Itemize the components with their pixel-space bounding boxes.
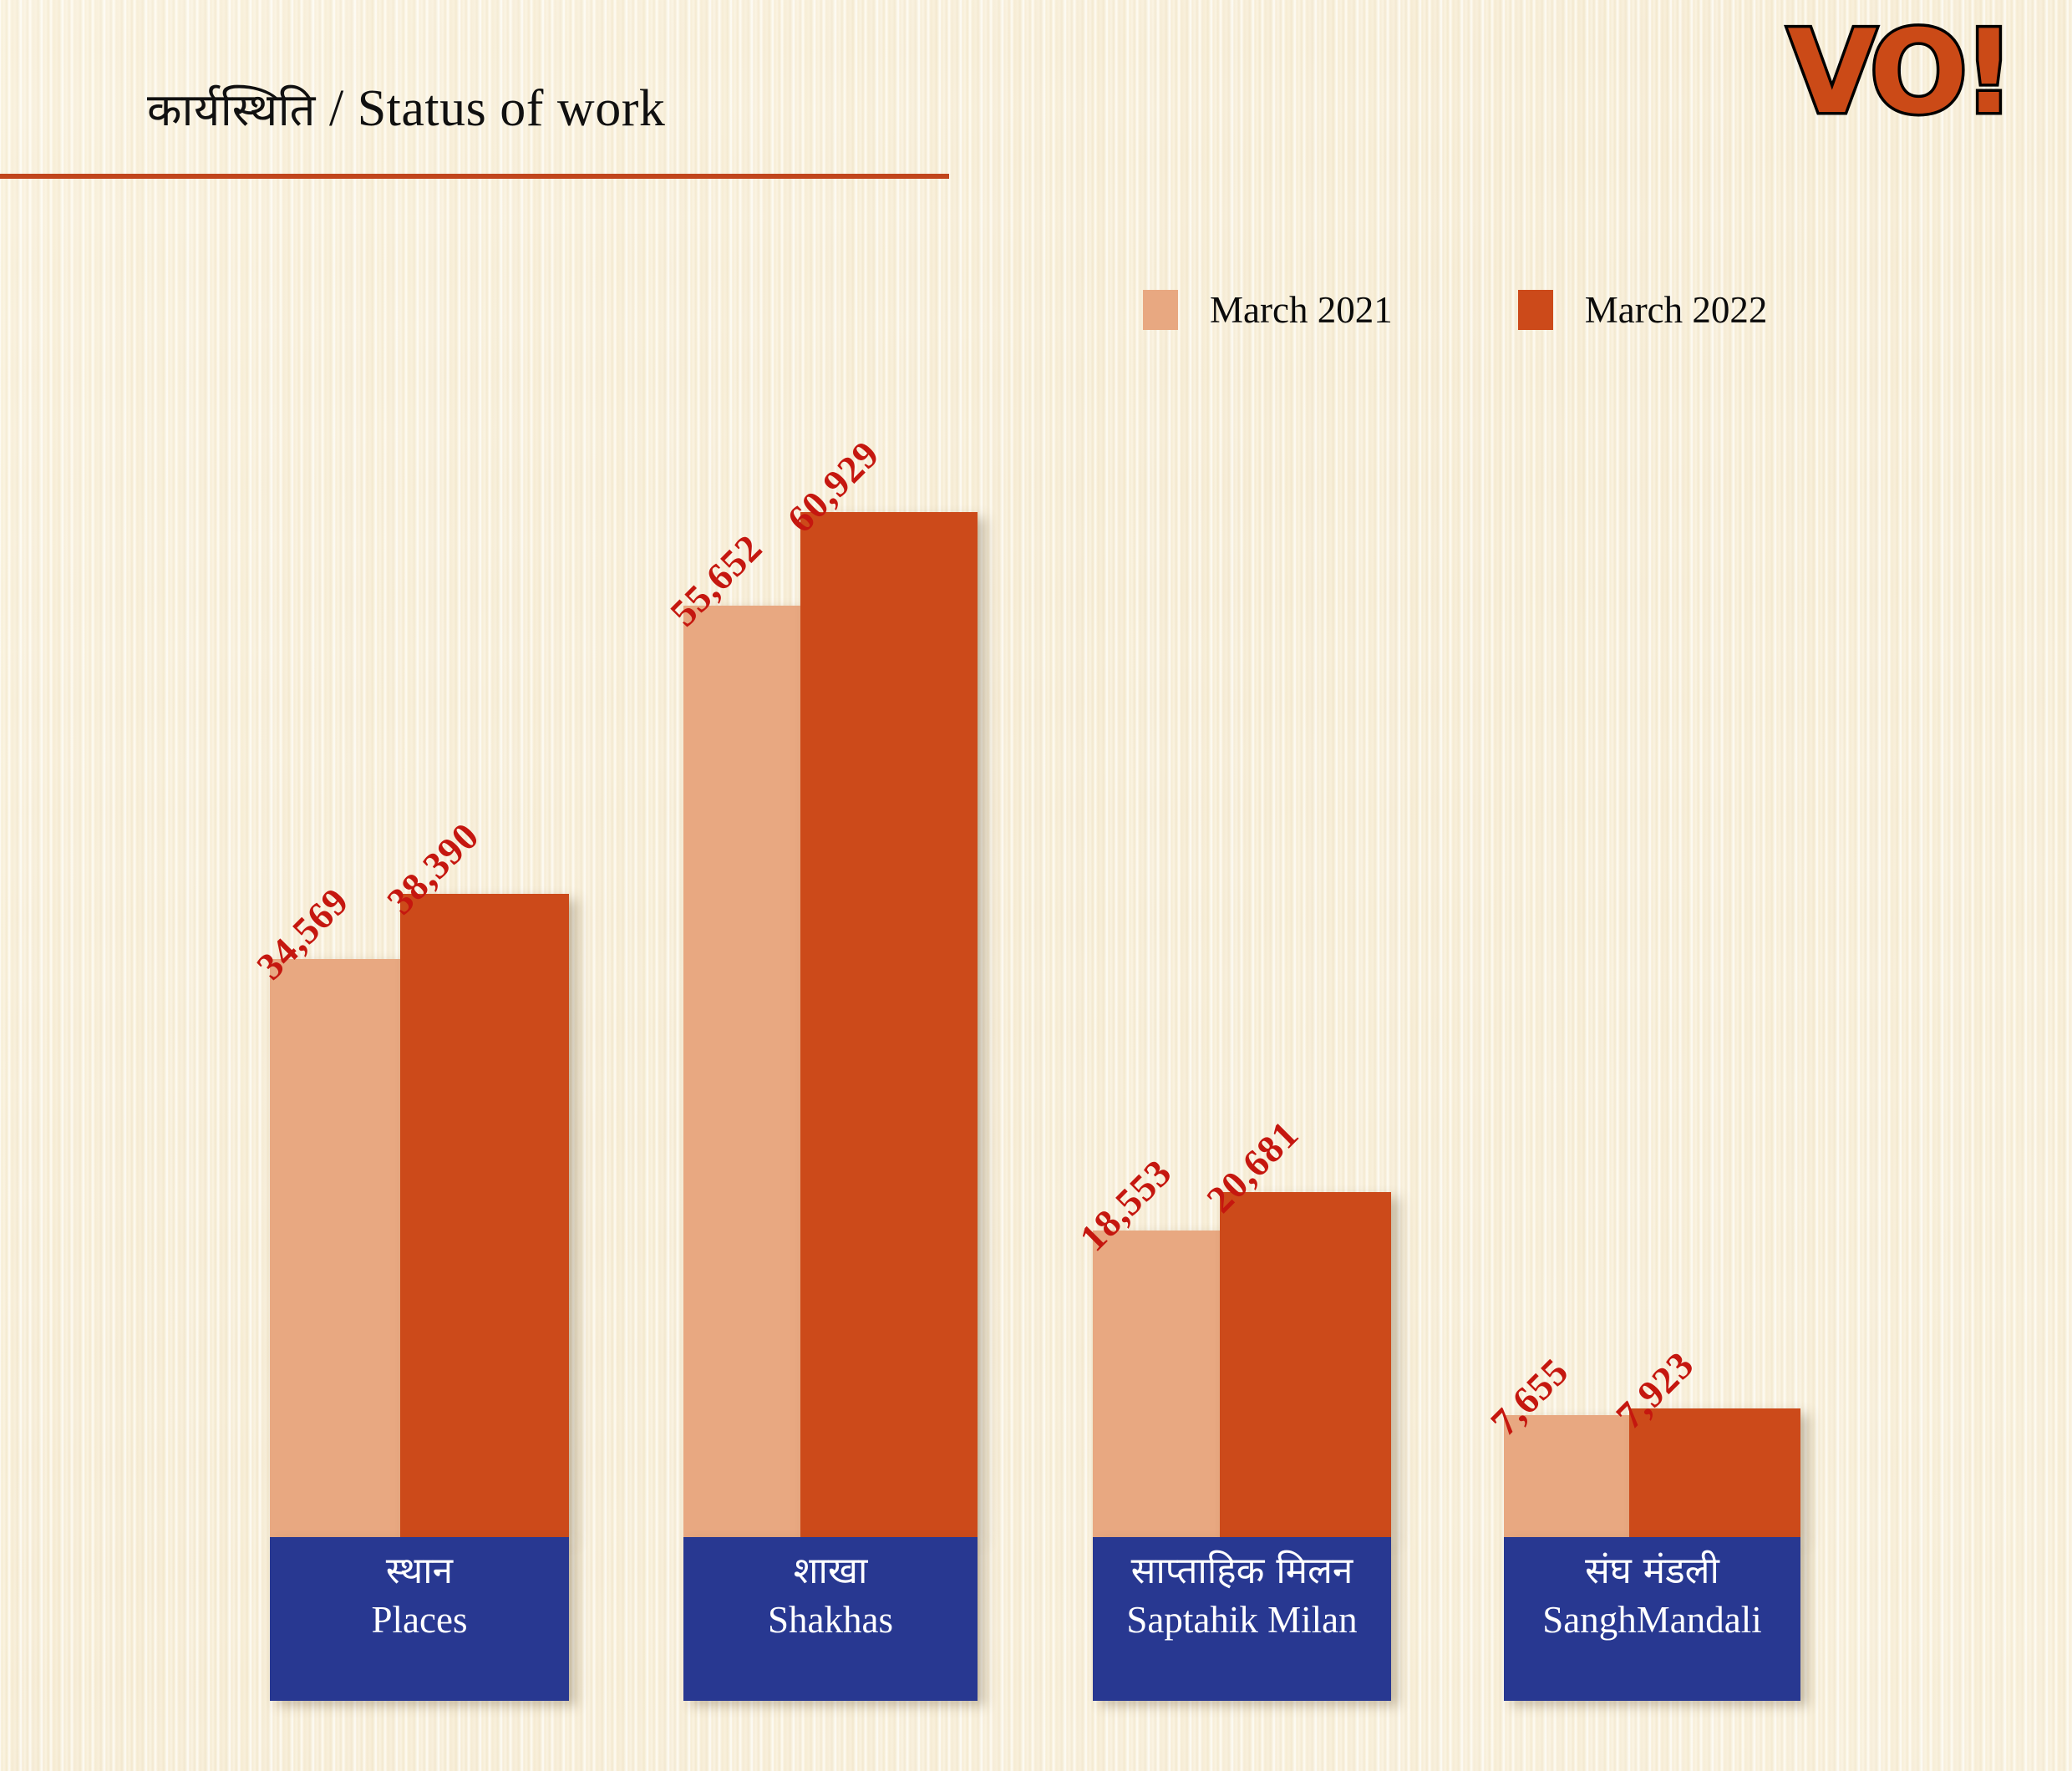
bar-places-2021 [270, 959, 400, 1537]
category-label-places-devanagari: स्थान [270, 1549, 569, 1594]
category-label-shakhas-devanagari: शाखा [683, 1549, 978, 1594]
bar-saptahik-milan-2022 [1220, 1192, 1391, 1537]
bar-saptahik-milan-2021 [1093, 1231, 1220, 1537]
category-box-sangh-mandali: संघ मंडली SanghMandali [1504, 1537, 1800, 1701]
category-box-shakhas: शाखा Shakhas [683, 1537, 978, 1701]
category-box-places: स्थान Places [270, 1537, 569, 1701]
bar-chart-plot-area: 34,569 38,390 स्थान Places 55,652 60,929… [0, 0, 2072, 1771]
bar-sangh-mandali-2022 [1629, 1408, 1800, 1537]
bar-shakhas-2021 [683, 606, 800, 1537]
category-label-shakhas-english: Shakhas [683, 1597, 978, 1643]
bar-places-2022 [400, 894, 569, 1537]
category-label-sangh-mandali-devanagari: संघ मंडली [1504, 1549, 1800, 1594]
category-label-saptahik-milan-devanagari: साप्ताहिक मिलन [1093, 1549, 1391, 1594]
bar-shakhas-2022 [800, 512, 978, 1537]
category-label-places-english: Places [270, 1597, 569, 1643]
category-label-sangh-mandali-english: SanghMandali [1504, 1597, 1800, 1643]
category-label-saptahik-milan-english: Saptahik Milan [1093, 1597, 1391, 1643]
category-box-saptahik-milan: साप्ताहिक मिलन Saptahik Milan [1093, 1537, 1391, 1701]
